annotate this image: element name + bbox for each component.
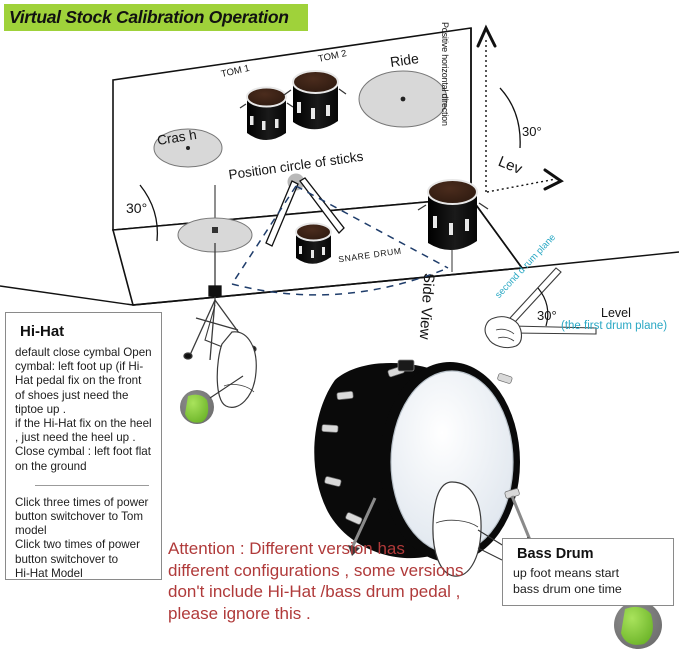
label-level: Level bbox=[601, 306, 631, 320]
hihat-info-box: Hi-Hat default close cymbal Open cymbal:… bbox=[5, 312, 162, 580]
hihat-box-body-secondary: Click three times of power button switch… bbox=[15, 496, 153, 581]
label-positive-horizontal-direction: Positive horizontal direction bbox=[440, 22, 450, 126]
hihat-box-title: Hi-Hat bbox=[20, 323, 153, 340]
diagram-root: Virtual Stock Calibration Operation bbox=[0, 0, 679, 658]
positive-horizontal-axis bbox=[478, 28, 495, 192]
bass-box-body: up foot means start bass drum one time bbox=[513, 566, 673, 597]
bass-box-title: Bass Drum bbox=[517, 546, 673, 562]
ride-cymbal bbox=[359, 71, 447, 127]
label-first-drum-plane: (the first drum plane) bbox=[561, 320, 667, 332]
snare-drum bbox=[296, 224, 331, 264]
tom1-drum bbox=[240, 88, 293, 141]
level-axis bbox=[486, 88, 561, 192]
tom2-drum bbox=[284, 71, 346, 129]
bass-drum-info-box: Bass Drum up foot means start bass drum … bbox=[502, 538, 674, 606]
hihat-box-body: default close cymbal Open cymbal: left f… bbox=[15, 346, 153, 474]
hihat-box-divider bbox=[35, 485, 149, 486]
hihat-foot-pedal-shoe bbox=[217, 332, 256, 408]
label-angle-left: 30° bbox=[126, 200, 147, 216]
bass-box-leader-line bbox=[478, 548, 502, 560]
label-angle-sideview: 30° bbox=[537, 308, 557, 323]
attention-note: Attention : Different version has differ… bbox=[168, 538, 468, 624]
label-angle-right: 30° bbox=[522, 124, 542, 139]
